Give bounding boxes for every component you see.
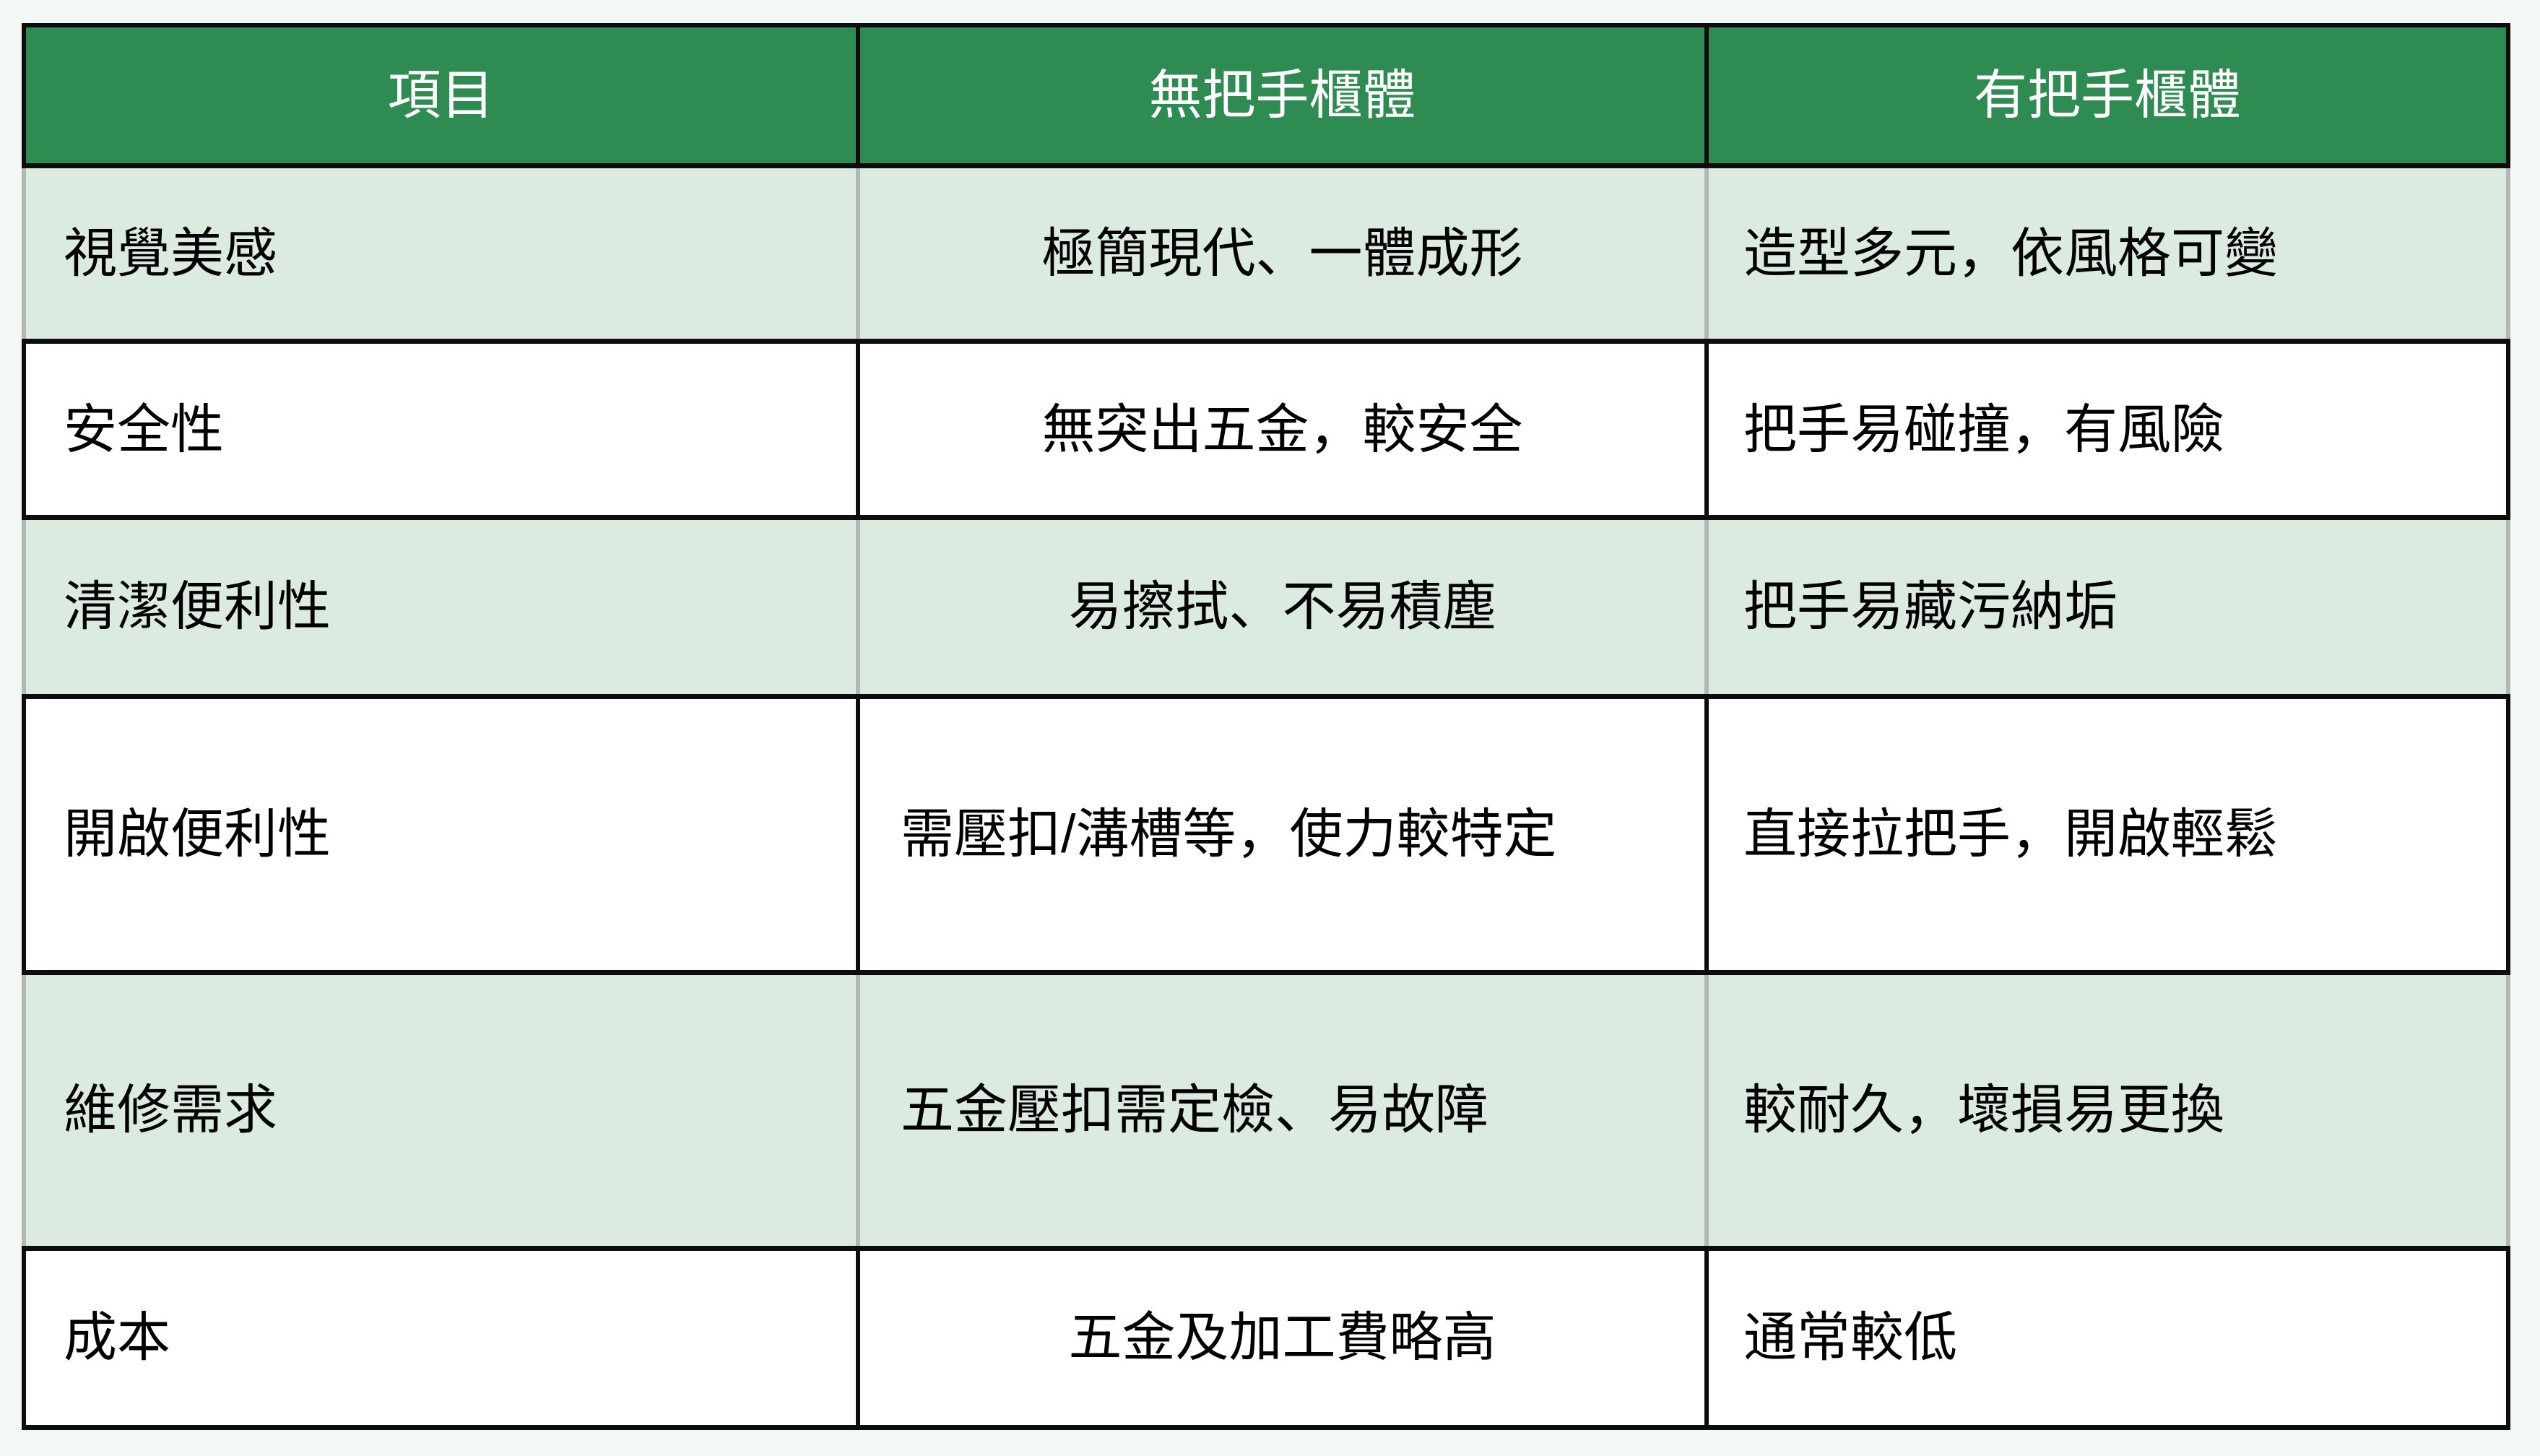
cell-without-handle-opening-convenience: 需壓扣/溝槽等，使力較特定 [858, 696, 1707, 972]
table-row: 清潔便利性 易擦拭、不易積塵 把手易藏污納垢 [24, 517, 2508, 696]
cell-with-handle-safety: 把手易碰撞，有風險 [1707, 342, 2508, 518]
cell-without-handle-visual-aesthetics: 極簡現代、一體成形 [858, 165, 1707, 342]
cell-with-handle-opening-convenience: 直接拉把手，開啟輕鬆 [1707, 696, 2508, 972]
cell-with-handle-visual-aesthetics: 造型多元，依風格可變 [1707, 165, 2508, 342]
row-label-safety: 安全性 [24, 342, 858, 518]
table-row: 維修需求 五金壓扣需定檢、易故障 較耐久，壞損易更換 [24, 972, 2508, 1248]
column-header-with-handle: 有把手櫃體 [1707, 25, 2508, 165]
cell-without-handle-safety: 無突出五金，較安全 [858, 342, 1707, 518]
cell-without-handle-cleaning-convenience: 易擦拭、不易積塵 [858, 517, 1707, 696]
row-label-cost: 成本 [24, 1249, 858, 1428]
column-header-without-handle: 無把手櫃體 [858, 25, 1707, 165]
table-row: 成本 五金及加工費略高 通常較低 [24, 1249, 2508, 1428]
table-row: 視覺美感 極簡現代、一體成形 造型多元，依風格可變 [24, 165, 2508, 342]
row-label-visual-aesthetics: 視覺美感 [24, 165, 858, 342]
column-header-item: 項目 [24, 25, 858, 165]
handle-comparison-table: 項目 無把手櫃體 有把手櫃體 視覺美感 極簡現代、一體成形 造型多元，依風格可變… [22, 23, 2510, 1430]
comparison-table-page: 項目 無把手櫃體 有把手櫃體 視覺美感 極簡現代、一體成形 造型多元，依風格可變… [0, 0, 2540, 1456]
cell-with-handle-cleaning-convenience: 把手易藏污納垢 [1707, 517, 2508, 696]
row-label-opening-convenience: 開啟便利性 [24, 696, 858, 972]
cell-with-handle-maintenance-need: 較耐久，壞損易更換 [1707, 972, 2508, 1248]
cell-with-handle-cost: 通常較低 [1707, 1249, 2508, 1428]
row-label-maintenance-need: 維修需求 [24, 972, 858, 1248]
table-header-row: 項目 無把手櫃體 有把手櫃體 [24, 25, 2508, 165]
table-container: 項目 無把手櫃體 有把手櫃體 視覺美感 極簡現代、一體成形 造型多元，依風格可變… [22, 23, 2506, 1430]
row-label-cleaning-convenience: 清潔便利性 [24, 517, 858, 696]
table-row: 安全性 無突出五金，較安全 把手易碰撞，有風險 [24, 342, 2508, 518]
table-row: 開啟便利性 需壓扣/溝槽等，使力較特定 直接拉把手，開啟輕鬆 [24, 696, 2508, 972]
cell-without-handle-maintenance-need: 五金壓扣需定檢、易故障 [858, 972, 1707, 1248]
cell-without-handle-cost: 五金及加工費略高 [858, 1249, 1707, 1428]
